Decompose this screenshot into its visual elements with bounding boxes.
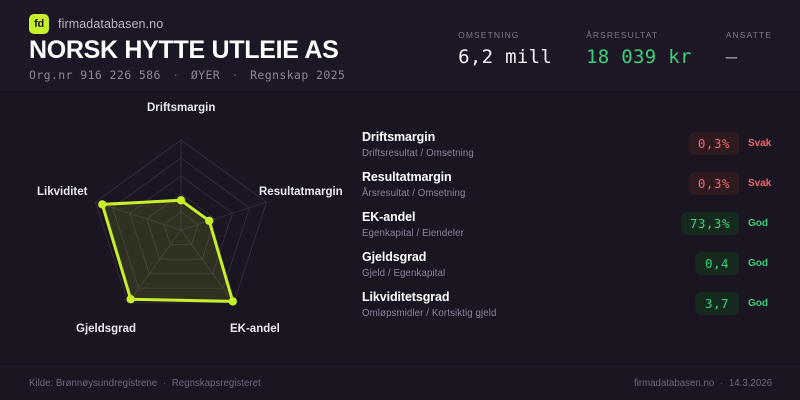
metric-name: Gjeldsgrad: [362, 250, 652, 265]
page-title: NORSK HYTTE UTLEIE AS: [29, 36, 338, 65]
metric-text-block: Driftsmargin Driftsresultat / Omsetning: [362, 130, 652, 159]
meta-separator-2: ·: [227, 68, 242, 82]
kpi-omsetning-label: OMSETNING: [458, 30, 552, 40]
page-header: fd firmadatabasen.no NORSK HYTTE UTLEIE …: [0, 0, 800, 90]
footer-source-extra: Regnskapsregisteret: [172, 378, 261, 389]
metric-text-block: Likviditetsgrad Omløpsmidler / Kortsikti…: [362, 290, 652, 319]
footer-source-text: Kilde: Brønnøysundregistrene: [29, 378, 157, 389]
brand[interactable]: fd firmadatabasen.no: [29, 14, 163, 34]
page-footer: Kilde: Brønnøysundregistrene · Regnskaps…: [0, 366, 800, 400]
metric-text-block: EK-andel Egenkapital / Eiendeler: [362, 210, 652, 239]
accounting-year: Regnskap 2025: [250, 68, 345, 82]
metric-text-block: Gjeldsgrad Gjeld / Egenkapital: [362, 250, 652, 279]
metric-row[interactable]: Likviditetsgrad Omløpsmidler / Kortsikti…: [362, 290, 782, 330]
radar-chart: DriftsmarginResultatmarginEK-andelGjelds…: [0, 88, 360, 338]
metric-formula: Gjeld / Egenkapital: [362, 268, 652, 279]
metric-row[interactable]: Resultatmargin Årsresultat / Omsetning 0…: [362, 170, 782, 210]
metric-name: Driftsmargin: [362, 130, 652, 145]
radar-chart-svg: [0, 88, 360, 338]
metric-value-badge: 0,4: [695, 252, 739, 275]
metric-name: Likviditetsgrad: [362, 290, 652, 305]
kpi-omsetning-value: 6,2 mill: [458, 46, 552, 68]
metric-value-badge: 73,3%: [681, 212, 739, 235]
radar-axis-label: Likviditet: [37, 186, 87, 198]
metric-value-group: 0,3% Svak: [689, 132, 782, 155]
metric-value-group: 73,3% God: [681, 212, 782, 235]
metric-text-block: Resultatmargin Årsresultat / Omsetning: [362, 170, 652, 199]
metric-rating-label: Svak: [748, 138, 782, 149]
kpi-ansatte: ANSATTE –: [726, 30, 772, 68]
footer-date: 14.3.2026: [729, 378, 772, 389]
metric-value-group: 0,3% Svak: [689, 172, 782, 195]
metric-formula: Årsresultat / Omsetning: [362, 188, 652, 199]
metric-name: Resultatmargin: [362, 170, 652, 185]
metric-rating-label: God: [748, 218, 782, 229]
metric-rating-label: God: [748, 258, 782, 269]
radar-axis-label: EK-andel: [230, 323, 280, 335]
footer-site-date: firmadatabasen.no · 14.3.2026: [634, 378, 772, 389]
company-meta: Org.nr 916 226 586 · ØYER · Regnskap 202…: [29, 68, 345, 82]
radar-axis-label: Driftsmargin: [147, 102, 215, 114]
radar-axis-label: Resultatmargin: [259, 186, 343, 198]
metric-rating-label: Svak: [748, 178, 782, 189]
metric-value-badge: 0,3%: [689, 172, 739, 195]
kpi-ansatte-value: –: [726, 46, 772, 68]
footer-separator-1: ·: [160, 378, 169, 389]
brand-name: firmadatabasen.no: [58, 17, 163, 31]
radar-axis-label: Gjeldsgrad: [76, 323, 136, 335]
footer-separator-2: ·: [717, 378, 726, 389]
metrics-list: Driftsmargin Driftsresultat / Omsetning …: [362, 130, 782, 330]
metric-name: EK-andel: [362, 210, 652, 225]
metric-row[interactable]: Gjeldsgrad Gjeld / Egenkapital 0,4 God: [362, 250, 782, 290]
firmadatabasen-logo-icon: fd: [29, 14, 49, 34]
company-place: ØYER: [191, 68, 220, 82]
metric-formula: Omløpsmidler / Kortsiktig gjeld: [362, 308, 652, 319]
kpi-strip: OMSETNING 6,2 mill ÅRSRESULTAT 18 039 kr…: [458, 30, 772, 68]
radar-series-area: [102, 200, 233, 301]
metric-value-group: 0,4 God: [695, 252, 782, 275]
kpi-arsresultat: ÅRSRESULTAT 18 039 kr: [586, 30, 692, 68]
metric-row[interactable]: EK-andel Egenkapital / Eiendeler 73,3% G…: [362, 210, 782, 250]
kpi-arsresultat-label: ÅRSRESULTAT: [586, 30, 692, 40]
metric-value-badge: 3,7: [695, 292, 739, 315]
metric-row[interactable]: Driftsmargin Driftsresultat / Omsetning …: [362, 130, 782, 170]
metric-formula: Egenkapital / Eiendeler: [362, 228, 652, 239]
kpi-arsresultat-value: 18 039 kr: [586, 46, 692, 68]
org-number: Org.nr 916 226 586: [29, 68, 161, 82]
kpi-omsetning: OMSETNING 6,2 mill: [458, 30, 552, 68]
metric-rating-label: God: [748, 298, 782, 309]
footer-site: firmadatabasen.no: [634, 378, 714, 389]
metric-value-group: 3,7 God: [695, 292, 782, 315]
footer-source: Kilde: Brønnøysundregistrene · Regnskaps…: [29, 378, 261, 389]
kpi-ansatte-label: ANSATTE: [726, 30, 772, 40]
metric-value-badge: 0,3%: [689, 132, 739, 155]
meta-separator-1: ·: [168, 68, 183, 82]
metric-formula: Driftsresultat / Omsetning: [362, 148, 652, 159]
